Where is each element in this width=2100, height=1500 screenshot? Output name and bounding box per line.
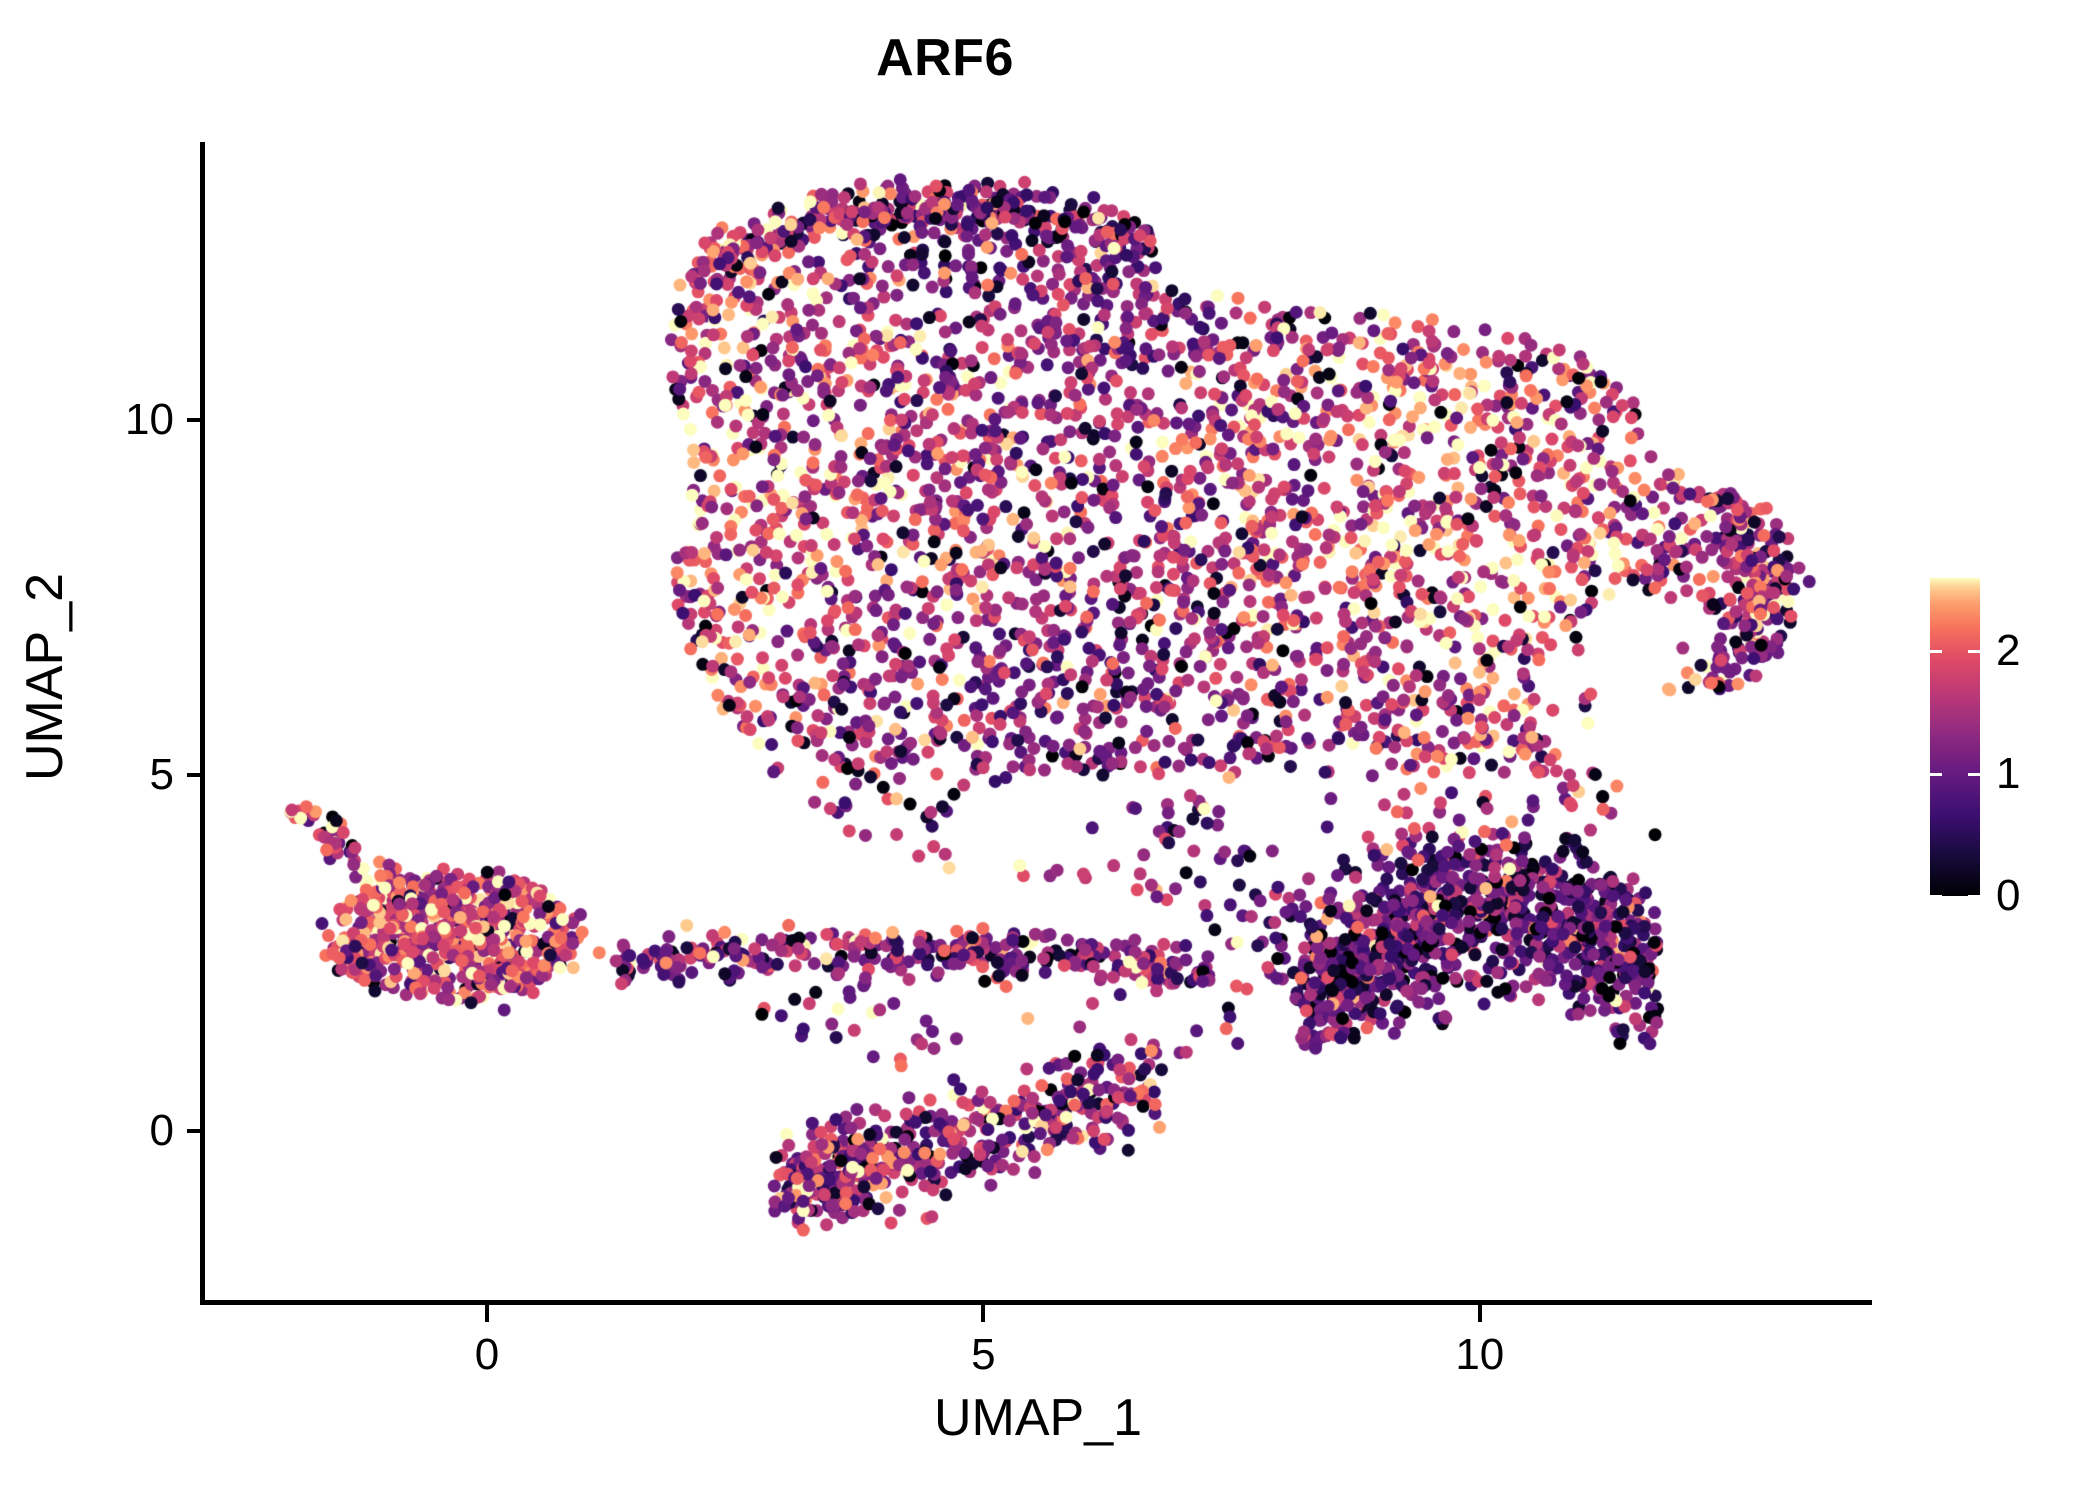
x-tick-mark xyxy=(485,1305,489,1322)
scatter-plot-canvas xyxy=(204,142,1872,1302)
legend-tick-label: 2 xyxy=(1996,626,2020,676)
legend-tick-mark xyxy=(1968,650,1980,653)
color-legend: 012 xyxy=(1930,578,2090,898)
legend-tick-label: 0 xyxy=(1996,871,2020,921)
legend-tick-mark xyxy=(1968,773,1980,776)
x-tick-label: 0 xyxy=(475,1330,499,1380)
x-tick-label: 5 xyxy=(971,1330,995,1380)
legend-tick-mark xyxy=(1930,895,1942,898)
chart-page: ARF6 0510 0510 UMAP_1 UMAP_2 012 xyxy=(0,0,2100,1500)
page-title: ARF6 xyxy=(0,28,1890,88)
y-axis-title: UMAP_2 xyxy=(15,327,75,1027)
x-tick-mark xyxy=(981,1305,985,1322)
y-tick-label: 0 xyxy=(14,1106,174,1156)
legend-tick-label: 1 xyxy=(1996,749,2020,799)
legend-tick-mark xyxy=(1968,895,1980,898)
y-tick-mark xyxy=(187,1129,204,1133)
colorbar-gradient xyxy=(1930,578,1980,896)
x-tick-label: 10 xyxy=(1455,1330,1504,1380)
plot-panel xyxy=(204,142,1872,1302)
y-tick-mark xyxy=(187,773,204,777)
y-tick-mark xyxy=(187,418,204,422)
x-axis-title: UMAP_1 xyxy=(204,1388,1872,1448)
x-tick-mark xyxy=(1478,1305,1482,1322)
legend-tick-mark xyxy=(1930,773,1942,776)
legend-tick-mark xyxy=(1930,650,1942,653)
